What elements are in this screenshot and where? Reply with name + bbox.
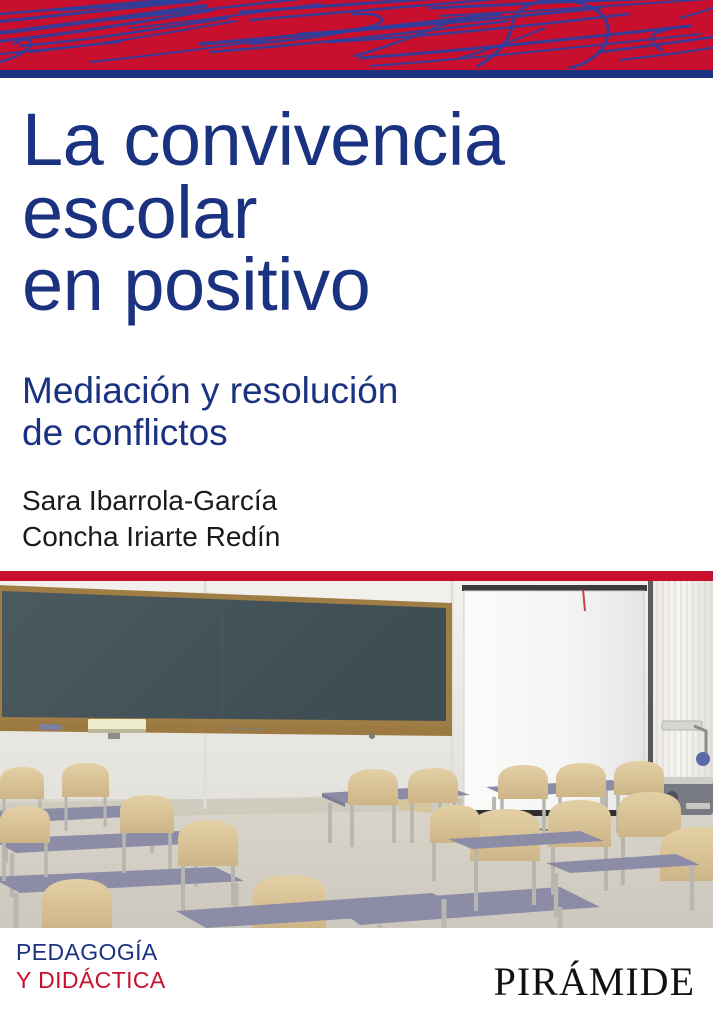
publisher-logo: PIRÁMIDE <box>494 958 695 1005</box>
top-blue-rule <box>0 70 713 78</box>
book-title: La convivencia escolar en positivo <box>22 104 662 322</box>
cover-footer: PEDAGOGÍA Y DIDÁCTICA PIRÁMIDE <box>0 928 713 1024</box>
collection-line-2: Y DIDÁCTICA <box>16 966 166 994</box>
book-authors: Sara Ibarrola-García Concha Iriarte Redí… <box>22 483 622 555</box>
classroom-photo <box>0 581 713 928</box>
book-cover: La convivencia escolar en positivo Media… <box>0 0 713 1024</box>
collection-line-1: PEDAGOGÍA <box>16 938 166 966</box>
book-subtitle: Mediación y resolución de conflictos <box>22 370 622 454</box>
title-block: La convivencia escolar en positivo Media… <box>0 78 713 571</box>
classroom-illustration-icon <box>0 581 713 928</box>
top-banner-artwork <box>0 0 713 70</box>
photo-red-rule <box>0 571 713 581</box>
collection-label: PEDAGOGÍA Y DIDÁCTICA <box>16 938 166 994</box>
scribble-pattern-icon <box>0 0 713 70</box>
